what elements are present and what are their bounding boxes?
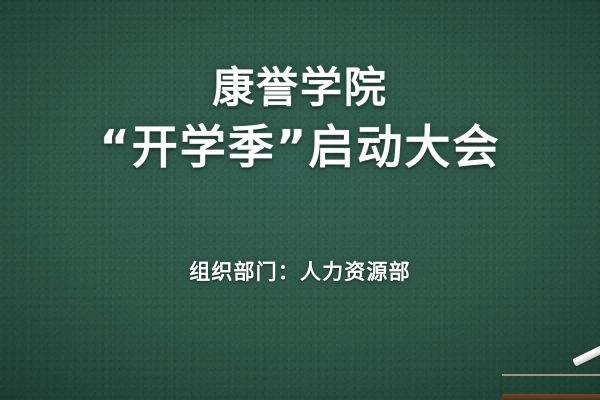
chalkboard-slide: 康誉学院 “开学季”启动大会 组织部门：人力资源部 [0,0,600,400]
chalk-tray-shadow [502,394,600,400]
title-block: 康誉学院 “开学季”启动大会 [0,62,600,175]
chalk-tray [502,374,600,400]
title-line-1: 康誉学院 [0,62,600,113]
chalk-tray-board [502,374,600,396]
subtitle-organizing-department: 组织部门：人力资源部 [189,259,411,286]
slide-content: 康誉学院 “开学季”启动大会 组织部门：人力资源部 [0,0,600,400]
title-line-2: “开学季”启动大会 [0,119,600,175]
